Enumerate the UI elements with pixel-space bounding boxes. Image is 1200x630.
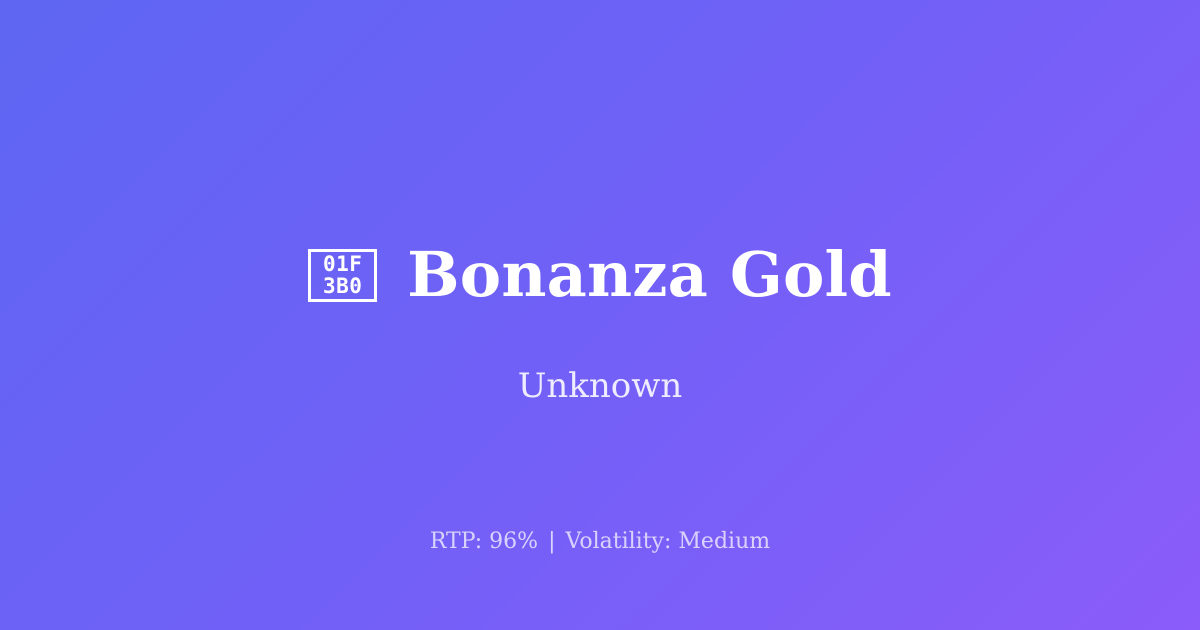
volatility-label: Volatility:	[566, 529, 672, 554]
title-row: 01F 3B0 Bonanza Gold	[0, 232, 1200, 318]
page-title: Bonanza Gold	[407, 232, 892, 318]
stats-separator: |	[545, 529, 558, 554]
provider-subtitle: Unknown	[0, 362, 1200, 410]
slot-machine-icon: 01F 3B0	[308, 249, 377, 302]
game-stats-line: RTP: 96% | Volatility: Medium	[0, 526, 1200, 558]
rtp-label: RTP:	[430, 529, 482, 554]
game-preview-card: 01F 3B0 Bonanza Gold Unknown RTP: 96% | …	[0, 0, 1200, 630]
volatility-value: Medium	[678, 529, 770, 554]
rtp-value: 96%	[489, 529, 538, 554]
codepoint-row-upper: 01F	[323, 253, 362, 275]
codepoint-row-lower: 3B0	[323, 275, 362, 297]
